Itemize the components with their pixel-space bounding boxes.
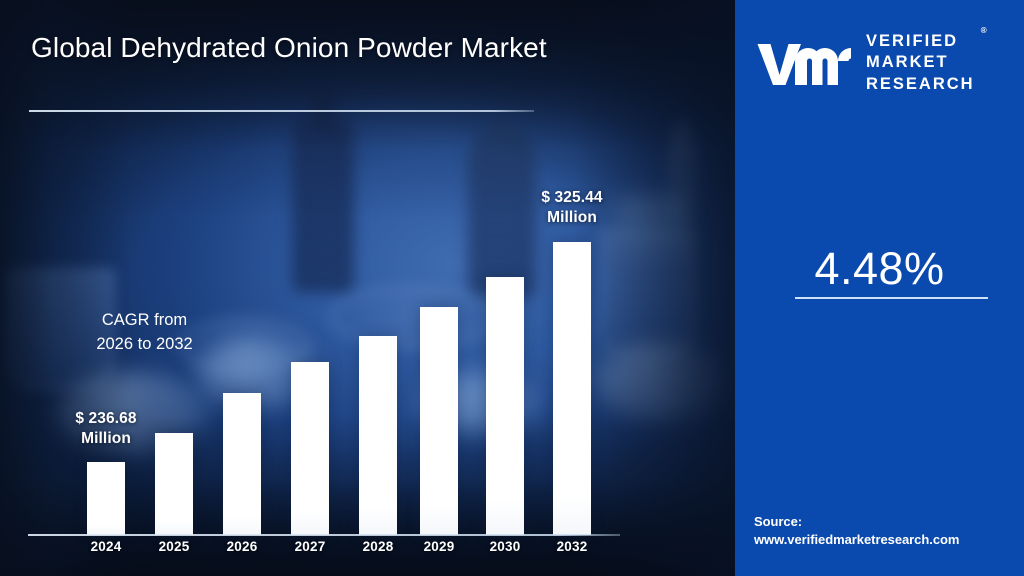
registered-trademark-icon: ®: [981, 26, 987, 36]
market-infographic: Global Dehydrated Onion Powder Market $ …: [0, 0, 1024, 576]
bar-2025: [155, 433, 193, 535]
x-label-2026: 2026: [212, 539, 272, 554]
x-label-2030: 2030: [475, 539, 535, 554]
bar-2029: [420, 307, 458, 535]
cagr-caption: CAGR from 2026 to 2032: [0, 308, 289, 356]
value-label-last: $ 325.44 Million: [512, 188, 632, 228]
verified-market-research-logo: VERIFIED MARKET RESEARCH ®: [755, 22, 1005, 104]
x-label-2024: 2024: [76, 539, 136, 554]
cagr-divider: [795, 297, 988, 299]
bar-2024: [87, 462, 125, 535]
x-label-2028: 2028: [348, 539, 408, 554]
x-label-2032: 2032: [542, 539, 602, 554]
brand-panel: VERIFIED MARKET RESEARCH ® 4.48%: [735, 0, 1024, 576]
cagr-value: 4.48%: [735, 243, 1024, 295]
logo-line-market: MARKET: [866, 52, 975, 73]
chart-panel: Global Dehydrated Onion Powder Market $ …: [0, 0, 735, 576]
x-label-2029: 2029: [409, 539, 469, 554]
bar-2027: [291, 362, 329, 535]
logo-line-research: RESEARCH: [866, 74, 975, 95]
value-label-first: $ 236.68 Million: [46, 409, 166, 449]
bar-2030: [486, 277, 524, 535]
bar-2028: [359, 336, 397, 535]
bar-2026: [223, 393, 261, 535]
x-label-2027: 2027: [280, 539, 340, 554]
source-attribution: Source: www.verifiedmarketresearch.com: [754, 513, 1024, 550]
bar-2032: [553, 242, 591, 535]
x-label-2025: 2025: [144, 539, 204, 554]
vm-logomark-icon: [755, 34, 855, 92]
x-axis-line: [28, 534, 620, 536]
bar-chart: $ 236.68 Million $ 325.44 Million 2024 2…: [0, 0, 735, 576]
logo-wordmark: VERIFIED MARKET RESEARCH ®: [866, 31, 975, 95]
logo-line-verified: VERIFIED: [866, 31, 975, 52]
